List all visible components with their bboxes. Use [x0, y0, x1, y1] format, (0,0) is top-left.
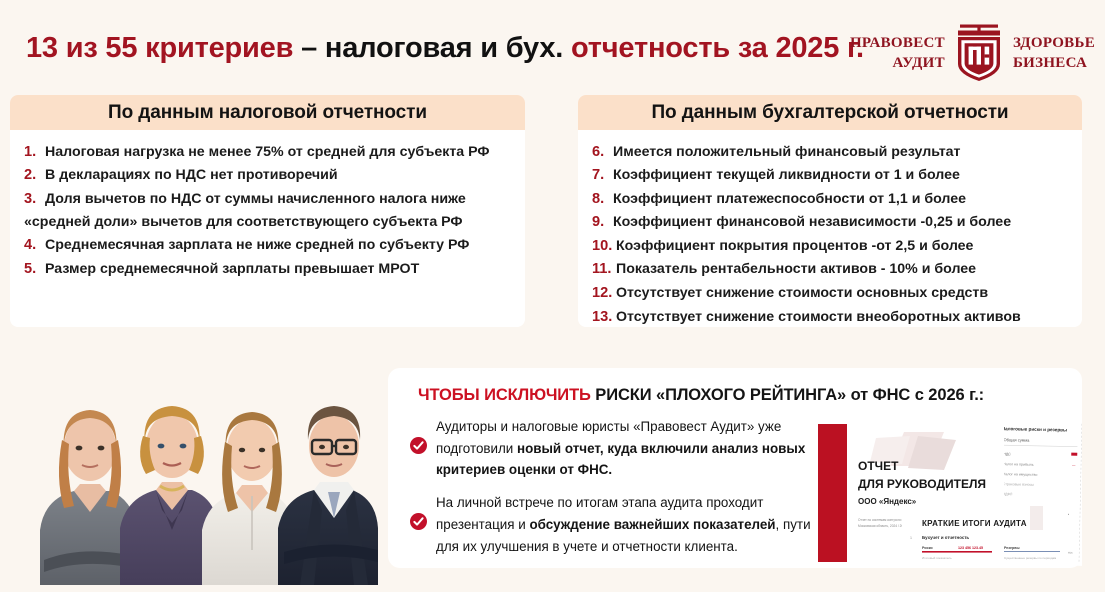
- inner-label-3: Налог на прибыль: [1003, 462, 1034, 467]
- cover-line2: ДЛЯ РУКОВОДИТЕЛЯ: [858, 477, 986, 491]
- criterion-text: В декларациях по НДС нет противоречий: [45, 168, 515, 182]
- criterion-text: Размер среднемесячной зарплаты превышает…: [45, 262, 515, 276]
- criterion-text: Коэффициент финансовой независимости -0,…: [613, 215, 1072, 229]
- inner-label-2: НДС: [1003, 452, 1011, 456]
- accounting-criteria-heading: По данным бухгалтерской отчетности: [651, 102, 1008, 124]
- summary-label-reserve: Резервы: [1004, 546, 1020, 550]
- summary-index: 1: [910, 536, 912, 540]
- check-circle-icon: [410, 437, 427, 454]
- list-item: Аудиторы и налоговые юристы «Правовест А…: [406, 416, 816, 481]
- criterion-number: 13.: [592, 310, 616, 325]
- slide-header: 13 из 55 критериев – налоговая и бух. от…: [0, 0, 1105, 92]
- shield-icon: [953, 24, 1005, 82]
- criterion-number: 12.: [592, 286, 616, 301]
- team-member-4: [278, 406, 378, 585]
- list-item: 5. Размер среднемесячной зарплаты превыш…: [10, 258, 525, 282]
- logo-text-left-line1: ПРАВОВЕСТ: [850, 33, 945, 53]
- list-item: 6. Имеется положительный финансовый резу…: [578, 140, 1082, 164]
- criterion-number: 7.: [592, 168, 613, 183]
- list-item: 1. Налоговая нагрузка не менее 75% от ср…: [10, 140, 525, 164]
- criterion-text: Отсутствует снижение стоимости основных …: [616, 286, 1072, 300]
- criterion-number: 11.: [592, 262, 616, 277]
- criterion-text: Коэффициент платежеспособности от 1,1 и …: [613, 192, 1072, 206]
- title-part-4: отчетность за 2025 г.: [571, 32, 864, 64]
- criterion-text: Среднемесячная зарплата не ниже средней …: [45, 238, 515, 252]
- slide-root: 13 из 55 критериев – налоговая и бух. от…: [0, 0, 1105, 592]
- inner-label-4: Налог на имущество: [1003, 472, 1038, 477]
- tax-criteria-panel: По данным налоговой отчетности 1. Налого…: [10, 95, 525, 327]
- logo-text-right-line2: БИЗНЕСА: [1013, 53, 1095, 73]
- summary-note-2: Существенные резервы по периодам: [1004, 556, 1056, 560]
- cta-title-rest: РИСКИ «ПЛОХОГО РЕЙТИНГА» от ФНС с 2026 г…: [591, 386, 984, 404]
- report-summary-page: КРАТКИЕ ИТОГИ АУДИТА 1 Бухучет и отчетно…: [902, 506, 1068, 564]
- list-item: 4. Среднемесячная зарплата не ниже средн…: [10, 234, 525, 258]
- cover-company: ООО «Яндекс»: [858, 497, 917, 506]
- criterion-number: 3.: [24, 192, 45, 207]
- criterion-text: Показатель рентабельности активов - 10% …: [616, 262, 1072, 276]
- summary-note-1: Итоговый показатель: [922, 556, 952, 560]
- cta-bullet-list: Аудиторы и налоговые юристы «Правовест А…: [406, 416, 816, 568]
- bullet-text: На личной встрече по итогам этапа аудита…: [436, 492, 816, 557]
- list-item: 9. Коэффициент финансовой независимости …: [578, 211, 1082, 235]
- title-part-3: налоговая и бух.: [325, 32, 571, 64]
- list-item: 7. Коэффициент текущей ликвидности от 1 …: [578, 164, 1082, 188]
- summary-title: КРАТКИЕ ИТОГИ АУДИТА: [922, 519, 1027, 528]
- list-item: На личной встрече по итогам этапа аудита…: [406, 492, 816, 557]
- list-item: 3. Доля вычетов по НДС от суммы начислен…: [10, 187, 525, 211]
- logo-text-left: ПРАВОВЕСТ АУДИТ: [850, 33, 945, 74]
- tax-criteria-header: По данным налоговой отчетности: [10, 95, 525, 130]
- brand-logo: ПРАВОВЕСТ АУДИТ: [850, 24, 1095, 82]
- team-photo: [22, 360, 392, 585]
- list-item: 8. Коэффициент платежеспособности от 1,1…: [578, 187, 1082, 211]
- logo-text-right-line1: ЗДОРОВЬЕ: [1013, 33, 1095, 53]
- bullet-text: Аудиторы и налоговые юристы «Правовест А…: [436, 416, 816, 481]
- summary-label-risk: Риски: [922, 546, 933, 550]
- criterion-text: Отсутствует снижение стоимости внеоборот…: [616, 310, 1072, 324]
- criterion-number: 5.: [24, 262, 45, 277]
- cover-line1: ОТЧЕТ: [858, 459, 899, 473]
- list-item: 10. Коэффициент покрытия процентов -от 2…: [578, 234, 1082, 258]
- logo-text-right: ЗДОРОВЬЕ БИЗНЕСА: [1013, 33, 1095, 74]
- check-circle-icon: [410, 513, 427, 530]
- accounting-criteria-panel: По данным бухгалтерской отчетности 6. Им…: [578, 95, 1082, 327]
- cta-title: ЧТОБЫ ИСКЛЮЧИТЬ РИСКИ «ПЛОХОГО РЕЙТИНГА»…: [418, 386, 984, 405]
- criterion-text: Имеется положительный финансовый результ…: [613, 145, 1072, 159]
- cta-title-accent: ЧТОБЫ ИСКЛЮЧИТЬ: [418, 386, 591, 404]
- criterion-number: 10.: [592, 239, 616, 254]
- list-item: 2. В декларациях по НДС нет противоречий: [10, 164, 525, 188]
- criterion-number: 2.: [24, 168, 45, 183]
- page-title: 13 из 55 критериев – налоговая и бух. от…: [26, 32, 864, 65]
- accounting-criteria-header: По данным бухгалтерской отчетности: [578, 95, 1082, 130]
- tax-criteria-list: 1. Налоговая нагрузка не менее 75% от ср…: [10, 130, 525, 281]
- summary-subtitle: Бухучет и отчетность: [922, 535, 969, 540]
- inner-label-1: Общая сумма: [1003, 437, 1030, 443]
- accounting-criteria-list: 6. Имеется положительный финансовый резу…: [578, 130, 1082, 327]
- criterion-text: Коэффициент текущей ликвидности от 1 и б…: [613, 168, 1072, 182]
- criterion-text: Коэффициент покрытия процентов -от 2,5 и…: [616, 239, 1072, 253]
- bullet-segment-bold: обсуждение важнейших показателей: [529, 517, 775, 532]
- title-part-1: 13 из 55 критериев: [26, 32, 293, 64]
- criterion-text: Налоговая нагрузка не менее 75% от средн…: [45, 145, 515, 159]
- list-item: 11. Показатель рентабельности активов - …: [578, 258, 1082, 282]
- criterion-number: 6.: [592, 145, 613, 160]
- tax-criteria-heading: По данным налоговой отчетности: [108, 102, 427, 124]
- criterion-text: Доля вычетов по НДС от суммы начисленног…: [45, 192, 515, 206]
- logo-text-left-line2: АУДИТ: [850, 53, 945, 73]
- criterion-number: 4.: [24, 238, 45, 253]
- criterion-number: 8.: [592, 192, 613, 207]
- list-item: 12. Отсутствует снижение стоимости основ…: [578, 282, 1082, 306]
- report-mockup: Налоговые риски и резервы Общая сумма НД…: [818, 418, 1082, 568]
- criterion-number: 1.: [24, 145, 45, 160]
- criterion-number: 9.: [592, 215, 613, 230]
- title-part-2: –: [293, 32, 325, 64]
- inner-label-5: Страховые взносы: [1003, 482, 1035, 487]
- list-item: 13. Отсутствует снижение стоимости внеоб…: [578, 305, 1082, 327]
- summary-value-risk: 123 456 123.45: [958, 546, 983, 550]
- criterion-text-continuation: «средней доли» вычетов для соответствующ…: [10, 211, 525, 234]
